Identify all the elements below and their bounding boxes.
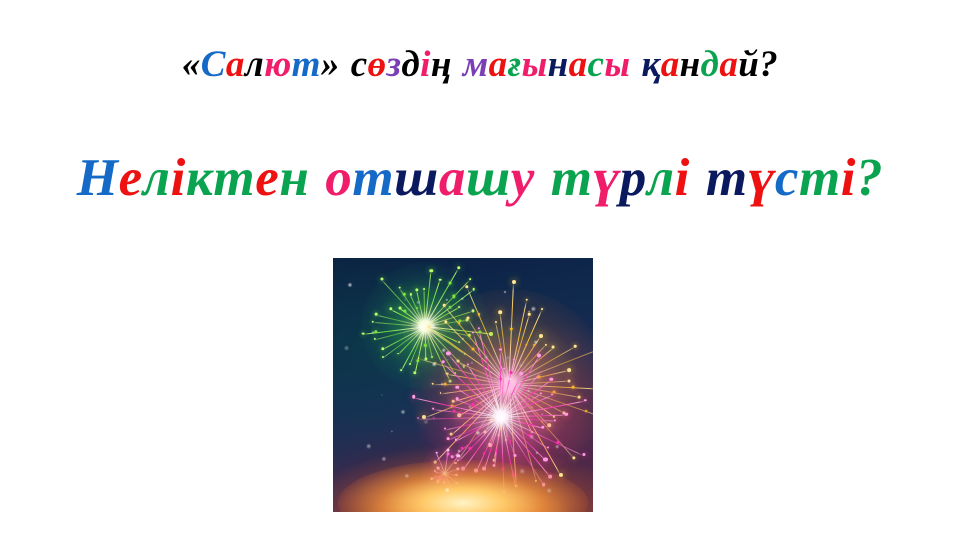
firework-spark-dot [433,408,435,410]
firework-spark-dot [444,428,446,430]
glyph: а [226,46,245,83]
firework-spark-dot [537,353,541,357]
firework-spark-dot [417,417,419,419]
glyph: » [321,46,340,83]
background-sparkle [416,300,420,304]
glyph: і [841,152,856,205]
glyph: н [548,46,569,83]
glyph: й [738,46,759,83]
glyph: е [255,152,279,205]
glyph: о [325,152,352,205]
glyph: с [351,46,368,83]
firework-spark-dot [498,310,502,314]
glyph: ғ [508,46,522,83]
firework-spark-dot [435,451,438,454]
firework-spark-dot [403,293,406,296]
fireworks-image [333,258,593,512]
firework-spark-dot [551,393,553,395]
firework-spark-dot [541,308,543,310]
glyph: т [799,152,841,205]
background-sparkle [527,310,530,313]
firework-spark-dot [443,304,446,307]
firework-spark-dot [472,331,474,333]
glyph: ү [748,152,775,205]
glyph: а [489,46,508,83]
glyph: д [401,46,420,83]
firework-spark-dot [362,332,365,335]
firework-spark-dot [584,399,587,402]
background-sparkle [381,394,383,396]
glyph: т [551,152,593,205]
glyph: т [352,152,394,205]
background-sparkle [555,444,560,449]
glyph: ы [604,46,630,83]
background-sparkle [344,345,350,351]
glyph: м [463,46,489,83]
glyph: д [701,46,720,83]
background-sparkle [404,299,406,301]
glyph: л [245,46,264,83]
firework-spark-dot [423,288,425,290]
glyph: с [588,46,605,83]
question-line-2: Неліктенотшашутүрлітүсті? [0,152,960,205]
firework-spark-dot [446,452,449,455]
firework-spark-dot [499,378,502,381]
background-sparkle [430,323,436,329]
glyph: і [420,46,431,83]
glyph: ш [394,152,439,205]
question-line-1: «Салют»сөздіңмағынасықандай? [0,46,960,83]
background-sparkle [527,389,531,393]
firework-spark-dot [375,313,378,316]
glyph: т [213,152,255,205]
background-sparkle [541,413,543,415]
firework-spark-dot [467,317,470,320]
background-sparkle [441,382,444,385]
firework-spark-dot [458,364,460,366]
glyph: т [292,46,321,83]
glyph: ? [856,152,883,205]
glyph: л [647,152,675,205]
background-sparkle [483,355,488,360]
firework-spark-dot [458,322,460,324]
glyph: Н [77,152,119,205]
glyph: з [387,46,402,83]
background-sparkle [366,443,372,449]
slide-canvas: «Салют»сөздіңмағынасықандай? Неліктенотш… [0,0,960,540]
firework-spark-dot [418,357,420,359]
firework-spark-dot [503,367,505,369]
glyph: а [439,152,466,205]
background-sparkle [450,307,452,309]
background-sparkle [517,350,519,352]
background-sparkle [445,488,450,493]
glyph: қ [642,46,661,83]
firework-spark-dot [439,278,442,281]
glyph: а [661,46,680,83]
background-sparkle [508,378,511,381]
firework-spark-dot [455,385,459,389]
firework-spark-dot [472,403,475,406]
glyph: і [171,152,186,205]
firework-spark-dot [465,285,468,288]
glyph: е [119,152,143,205]
background-sparkle [432,362,437,367]
firework-spark-dot [525,299,528,302]
glyph: н [680,46,701,83]
firework-spark-dot [372,320,375,323]
glyph: С [201,46,226,83]
firework-spark-dot [582,453,585,456]
glyph: а [569,46,588,83]
firework-spark-dot [564,412,568,416]
glyph: н [279,152,309,205]
glyph: ы [522,46,548,83]
glyph: ш [466,152,511,205]
background-sparkle [519,469,525,475]
glyph: ң [431,46,452,83]
firework-spark-dot [456,454,460,458]
firework-spark-dot [514,454,517,457]
firework-spark-dot [540,371,542,373]
glyph: « [182,46,201,83]
glyph: ю [264,46,291,83]
glyph: т [706,152,748,205]
firework-spark-dot [448,281,451,284]
firework-spark-dot [531,392,533,394]
glyph: к [186,152,213,205]
glyph: с [775,152,799,205]
glyph: р [620,152,647,205]
firework-spark-dot [456,397,459,400]
firework-spark-dot [528,313,531,316]
glyph: ө [368,46,387,83]
glyph: а [719,46,738,83]
firework-spark-dot [520,372,524,376]
firework-spark-dot [398,286,401,289]
background-sparkle [441,348,446,353]
background-sparkle [546,488,552,494]
firework-spark-dot [442,361,445,364]
firework-spark-dot [412,395,416,399]
glyph: ү [593,152,620,205]
background-sparkle [533,340,538,345]
firework-spark-dot [457,266,461,270]
firework-spark-dot [447,448,450,451]
glyph: у [511,152,535,205]
background-sparkle [504,290,507,293]
firework-spark-dot [541,426,545,430]
firework-spark-dot [483,452,485,454]
firework-spark-dot [574,345,577,348]
firework-spark-dot [512,280,516,284]
firework-spark-dot [509,371,512,374]
glyph: ? [759,46,778,83]
firework-spark-dot [399,306,402,309]
glyph: і [675,152,690,205]
glyph: л [143,152,171,205]
